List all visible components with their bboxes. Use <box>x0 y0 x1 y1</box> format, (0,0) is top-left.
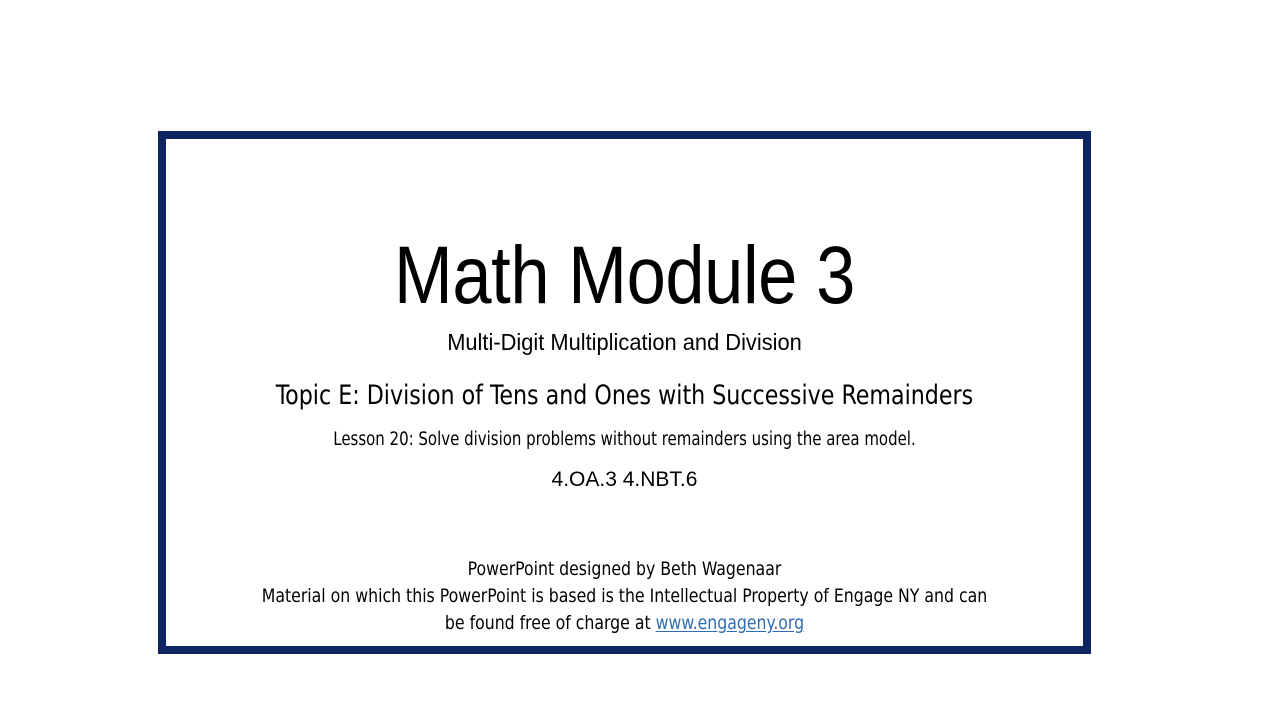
credits-designer-line: PowerPoint designed by Beth Wagenaar <box>203 556 1047 583</box>
slide-canvas: Math Module 3 Multi-Digit Multiplication… <box>0 0 1280 720</box>
credits-block: PowerPoint designed by Beth Wagenaar Mat… <box>203 492 1047 637</box>
module-subtitle: Multi-Digit Multiplication and Division <box>189 317 1060 355</box>
lesson-objective: Lesson 20: Solve division problems witho… <box>212 412 1037 450</box>
credits-attribution-prefix: be found free of charge at <box>445 612 656 634</box>
topic-heading: Topic E: Division of Tens and Ones with … <box>198 355 1051 411</box>
page-title: Math Module 3 <box>230 139 1019 317</box>
title-slide-content: Math Module 3 Multi-Digit Multiplication… <box>166 139 1083 646</box>
engageny-link[interactable]: www.engageny.org <box>656 612 804 634</box>
credits-attribution-line-1: Material on which this PowerPoint is bas… <box>203 583 1047 610</box>
title-slide-frame: Math Module 3 Multi-Digit Multiplication… <box>158 131 1091 654</box>
standards-codes: 4.OA.3 4.NBT.6 <box>166 450 1083 492</box>
credits-attribution-line-2: be found free of charge at www.engageny.… <box>203 610 1047 637</box>
